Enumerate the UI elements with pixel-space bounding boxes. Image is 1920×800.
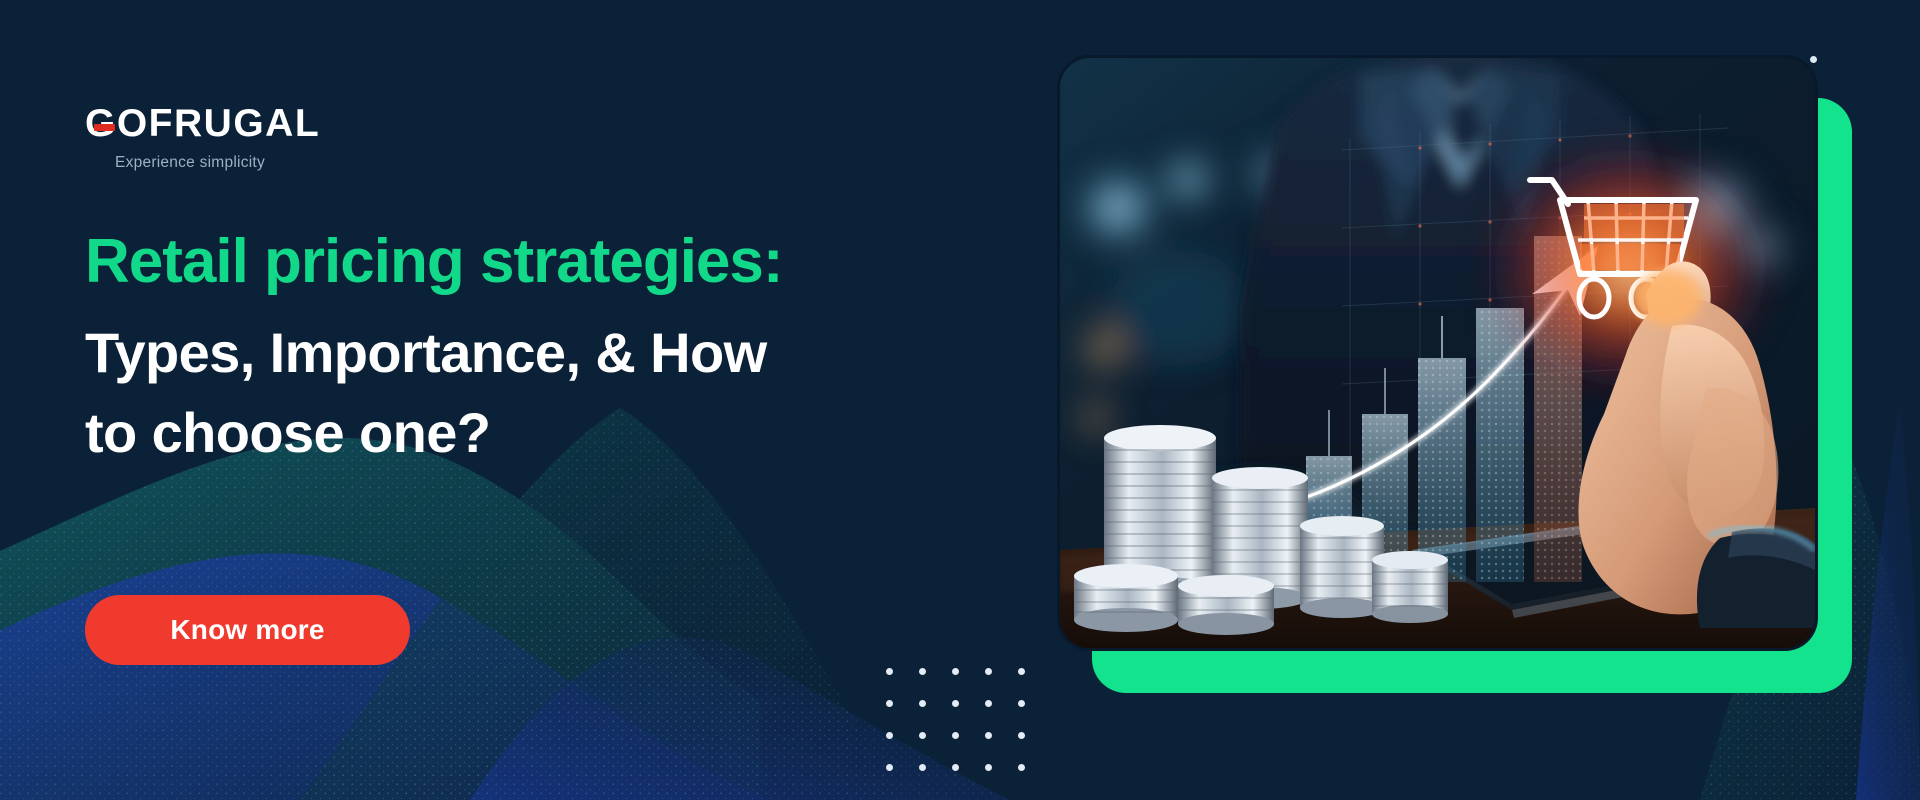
brand-logo[interactable]: GOFRUGAL Experience simplicity bbox=[85, 104, 385, 172]
headline-line-2: Types, Importance, & How bbox=[85, 317, 985, 389]
page-title: Retail pricing strategies: Types, Import… bbox=[85, 222, 985, 469]
hero-image-card[interactable] bbox=[1060, 58, 1815, 648]
grid-dot bbox=[985, 764, 992, 771]
banner-content: GOFRUGAL Experience simplicity Retail pr… bbox=[85, 0, 965, 800]
logo-wordmark: GOFRUGAL bbox=[85, 104, 320, 143]
grid-dot bbox=[985, 700, 992, 707]
promo-banner: GOFRUGAL Experience simplicity Retail pr… bbox=[0, 0, 1920, 800]
grid-dot bbox=[1018, 764, 1025, 771]
know-more-button[interactable]: Know more bbox=[85, 595, 410, 665]
logo-text: GOFRUGAL bbox=[85, 102, 320, 145]
grid-dot bbox=[985, 668, 992, 675]
grid-dot bbox=[1018, 700, 1025, 707]
headline-line-1: Retail pricing strategies: bbox=[85, 222, 985, 301]
grid-dot bbox=[1018, 732, 1025, 739]
logo-g-bar-icon bbox=[94, 124, 115, 131]
grid-dot bbox=[985, 732, 992, 739]
hero-image-container bbox=[1060, 58, 1850, 703]
hero-photo-business-growth bbox=[1060, 58, 1815, 648]
grid-dot bbox=[1018, 668, 1025, 675]
logo-tagline: Experience simplicity bbox=[115, 154, 385, 172]
headline-line-3: to choose one? bbox=[85, 397, 985, 469]
